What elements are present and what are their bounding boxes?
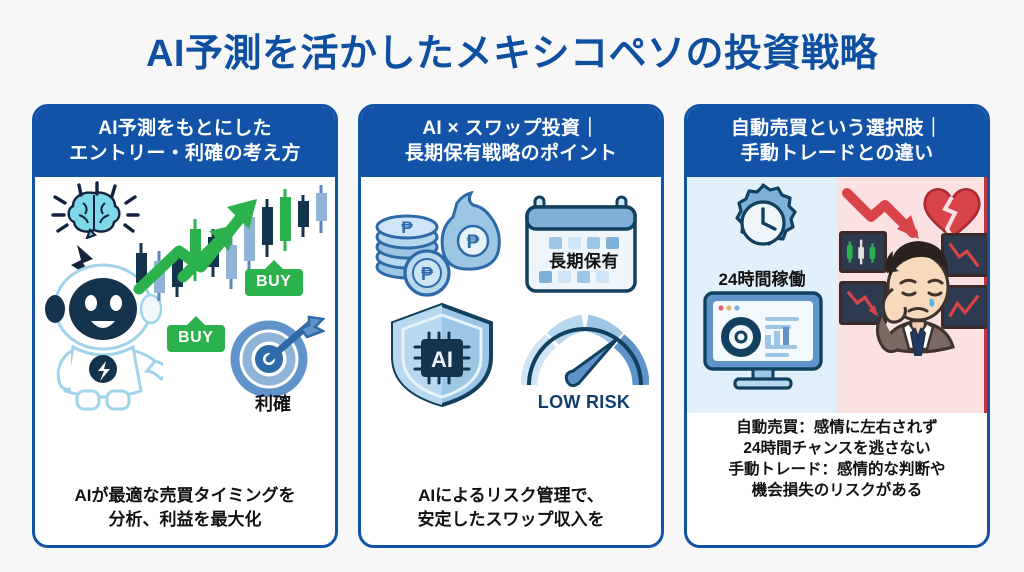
- card-2-illustration: ₱ ₱ ₱: [361, 177, 661, 480]
- card-3-caption-line2: 24時間チャンスを逃さない: [695, 438, 979, 459]
- card-1-caption: AIが最適な売買タイミングを 分析、利益を最大化: [35, 480, 335, 545]
- candlestick-chart-icon: [131, 181, 333, 331]
- card-3-caption-line1: 自動売買：感情に左右されず: [695, 417, 979, 438]
- card-2-header: AI × スワップ投資｜ 長期保有戦略のポイント: [361, 107, 661, 177]
- card-row: AI予測をもとにした エントリー・利確の考え方: [32, 104, 992, 548]
- card-2-body: ₱ ₱ ₱: [361, 177, 661, 545]
- svg-text:AI: AI: [431, 347, 453, 372]
- card-1-header-line2: エントリー・利確の考え方: [41, 141, 329, 166]
- card-3-header-line2: 手動トレードとの違い: [693, 141, 981, 166]
- auto-trading-label: 24時間稼働: [687, 265, 837, 290]
- infographic-page: AI予測を活かしたメキシコペソの投資戦略 AI予測をもとにした エントリー・利確…: [0, 0, 1024, 572]
- stressed-trader-icon: [863, 229, 973, 359]
- card-3-caption: 自動売買：感情に左右されず 24時間チャンスを逃さない 手動トレード：感情的な判…: [687, 413, 987, 511]
- gear-clock-icon: [723, 183, 803, 263]
- svg-text:₱: ₱: [401, 218, 413, 237]
- card-2-caption-line2: 安定したスワップ収入を: [369, 508, 653, 531]
- low-risk-gauge-icon: [521, 313, 649, 397]
- svg-text:₱: ₱: [467, 232, 480, 253]
- card-2-caption: AIによるリスク管理で、 安定したスワップ収入を: [361, 480, 661, 545]
- page-title: AI予測を活かしたメキシコペソの投資戦略: [0, 22, 1024, 77]
- comparison-split: 24時間稼働: [687, 177, 987, 413]
- buy-badge-upper: BUY: [245, 269, 303, 296]
- card-1-header: AI予測をもとにした エントリー・利確の考え方: [35, 107, 335, 177]
- buy-badge-lower: BUY: [167, 325, 225, 352]
- card-3-body: 24時間稼働: [687, 177, 987, 545]
- svg-text:₱: ₱: [421, 264, 433, 284]
- card-3-caption-line4: 機会損失のリスクがある: [695, 480, 979, 501]
- card-1-illustration: BUY BUY 利確: [35, 177, 335, 480]
- manual-trading-panel: [837, 177, 987, 413]
- target-dart-icon: [225, 315, 325, 397]
- coins-moneybag-icon: ₱ ₱ ₱: [373, 189, 503, 299]
- card-1-caption-line1: AIが最適な売買タイミングを: [43, 484, 327, 507]
- calendar-label: 長期保有: [529, 247, 639, 272]
- card-2-header-line2: 長期保有戦略のポイント: [367, 141, 655, 166]
- gauge-label: LOW RISK: [519, 392, 649, 413]
- card-3-illustration: 24時間稼働: [687, 177, 987, 413]
- monitor-dashboard-icon: [701, 289, 825, 393]
- card-1-header-line1: AI予測をもとにした: [41, 116, 329, 141]
- calendar-icon: [521, 189, 647, 297]
- card-3-header: 自動売買という選択肢｜ 手動トレードとの違い: [687, 107, 987, 177]
- card-3-caption-line3: 手動トレード：感情的な判断や: [695, 459, 979, 480]
- card-1-caption-line2: 分析、利益を最大化: [43, 508, 327, 531]
- card-2-caption-line1: AIによるリスク管理で、: [369, 484, 653, 507]
- target-label: 利確: [233, 390, 313, 416]
- card-swap-longterm-strategy: AI × スワップ投資｜ 長期保有戦略のポイント ₱: [358, 104, 664, 548]
- card-1-body: BUY BUY 利確 AIが最適な売買タイミングを 分析、利益を最大化: [35, 177, 335, 545]
- automated-trading-panel: 24時間稼働: [687, 177, 837, 413]
- card-auto-vs-manual-trading: 自動売買という選択肢｜ 手動トレードとの違い: [684, 104, 990, 548]
- card-ai-entry-strategy: AI予測をもとにした エントリー・利確の考え方: [32, 104, 338, 548]
- card-3-header-line1: 自動売買という選択肢｜: [693, 116, 981, 141]
- card-2-header-line1: AI × スワップ投資｜: [367, 116, 655, 141]
- ai-shield-icon: AI: [383, 301, 501, 409]
